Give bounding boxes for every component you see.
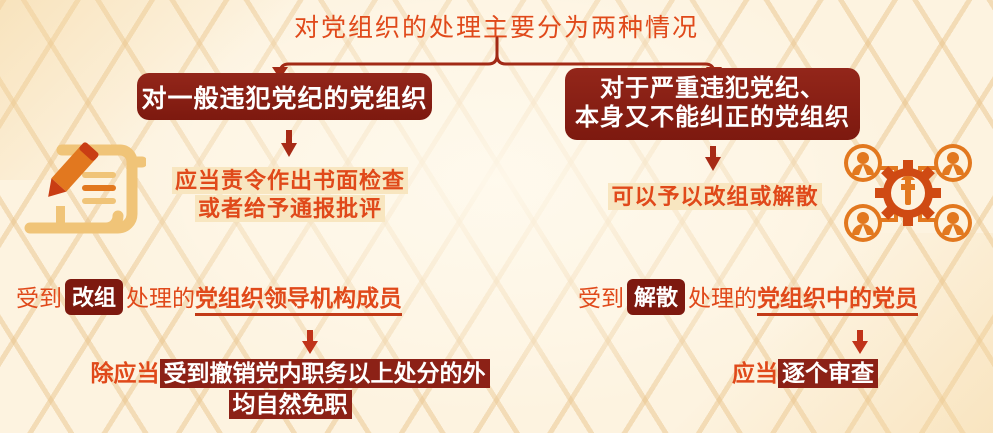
measure-text-left: 应当责令作出书面检查 或者给予通报批评 <box>140 167 440 223</box>
result-row-right: 应当逐个审查 <box>640 358 970 389</box>
subject-right-prefix: 受到 <box>578 286 624 311</box>
org-restructure-gear-icon <box>832 138 984 253</box>
result-left-highlight-line1: 受到撤销党内职务以上处分的外 <box>160 359 490 388</box>
subject-row-right: 受到解散处理的党组织中的党员 <box>578 279 918 315</box>
page-title: 对党组织的处理主要分为两种情况 <box>0 8 993 44</box>
subject-left-middle: 处理的 <box>126 286 195 311</box>
document-pencil-icon <box>14 140 146 245</box>
subject-right-badge: 解散 <box>627 279 685 315</box>
branch-box-right-label-line2: 本身又不能纠正的党组织 <box>575 104 850 133</box>
subject-row-left: 受到改组处理的党组织领导机构成员 <box>16 279 402 315</box>
subject-left-target: 党组织领导机构成员 <box>195 286 402 316</box>
branch-box-left-label: 对一般违犯党纪的党组织 <box>141 79 427 115</box>
background-corner-bottom-right <box>663 233 993 433</box>
measure-left-line2: 或者给予通报批评 <box>195 195 385 222</box>
subject-right-target: 党组织中的党员 <box>757 286 918 316</box>
subject-left-badge: 改组 <box>65 279 123 315</box>
result-left-highlight-line2: 均自然免职 <box>229 390 352 419</box>
result-row-left: 除应当受到撤销党内职务以上处分的外 均自然免职 <box>90 358 490 420</box>
subject-right-middle: 处理的 <box>688 286 757 311</box>
subject-left-prefix: 受到 <box>16 286 62 311</box>
result-right-highlight-line1: 逐个审查 <box>778 359 878 388</box>
measure-left-line1: 应当责令作出书面检查 <box>172 167 408 194</box>
infographic-root: 对党组织的处理主要分为两种情况 对一般违犯党纪的党组织 对于严重违犯党纪、 本身… <box>0 0 993 433</box>
branch-box-right: 对于严重违犯党纪、 本身又不能纠正的党组织 <box>565 68 860 140</box>
branch-box-left: 对一般违犯党纪的党组织 <box>137 73 432 120</box>
measure-text-right: 可以予以改组或解散 <box>580 183 850 211</box>
result-left-lead: 除应当 <box>91 361 160 386</box>
result-right-lead: 应当 <box>732 361 778 386</box>
branch-box-right-label-line1: 对于严重违犯党纪、 <box>575 75 850 104</box>
measure-right-line1: 可以予以改组或解散 <box>608 183 821 210</box>
